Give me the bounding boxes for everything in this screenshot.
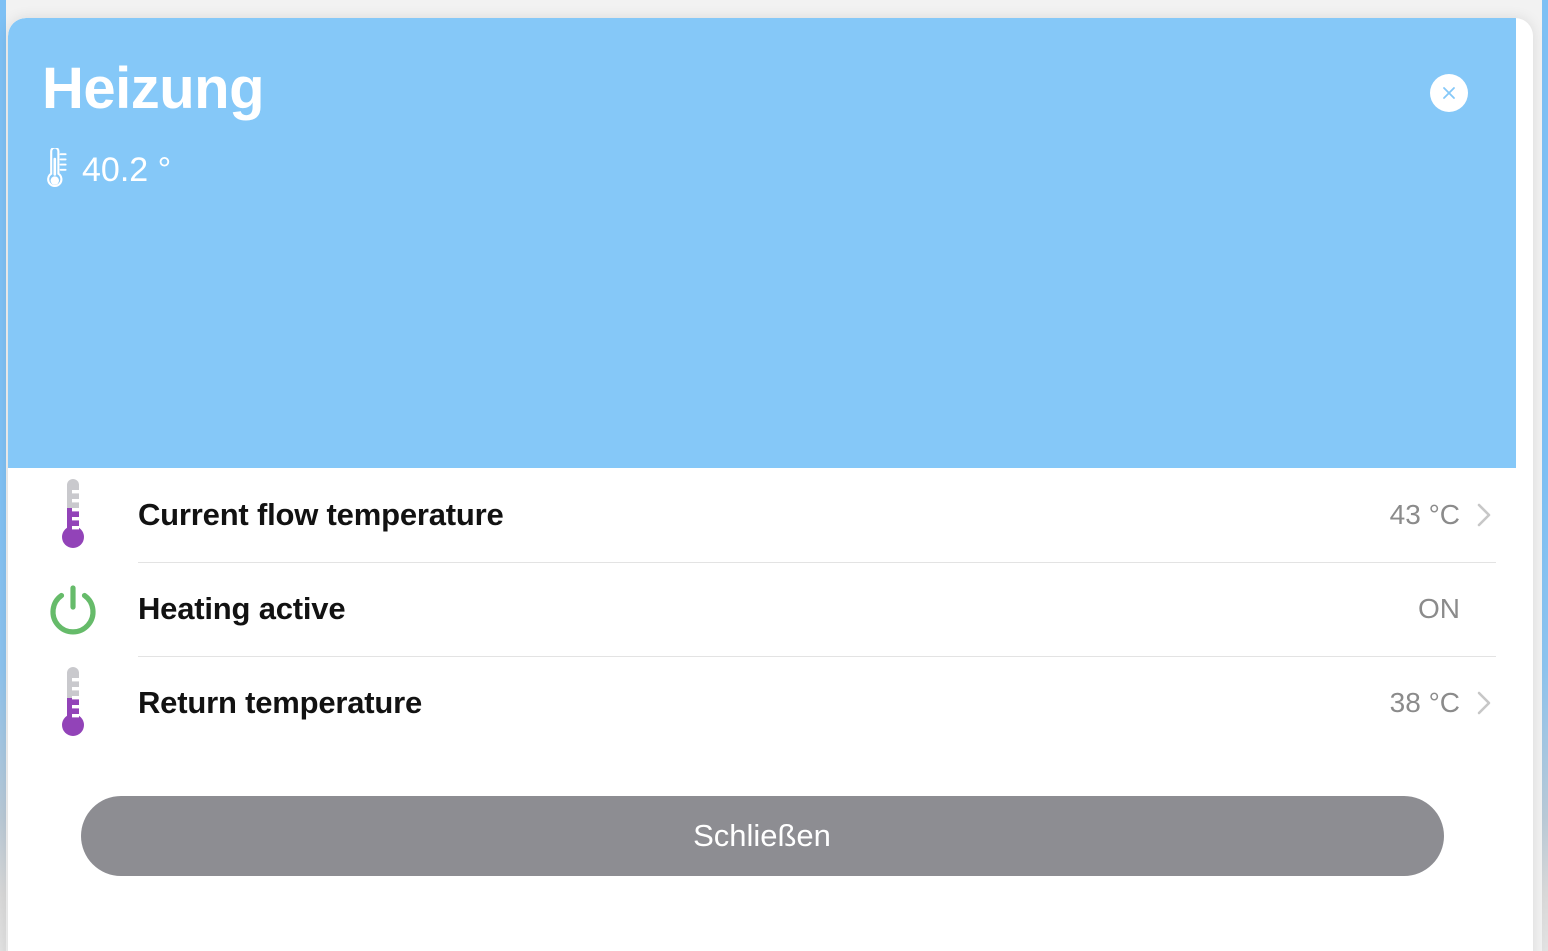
list-item-label: Heating active <box>138 591 1418 627</box>
detail-list: Current flow temperature 43 °C <box>8 468 1516 750</box>
scrollbar-left[interactable] <box>0 0 6 951</box>
power-icon <box>8 580 138 638</box>
status-badge: ON <box>1418 593 1460 625</box>
list-item-value-group: ON <box>1418 593 1516 625</box>
page-background: Heizung 40.2 ° <box>0 0 1548 951</box>
close-button[interactable]: Schließen <box>81 796 1444 876</box>
dialog-footer: Schließen <box>8 796 1516 876</box>
list-item-label: Return temperature <box>138 685 1390 721</box>
list-item-value: 38 °C <box>1390 687 1460 719</box>
dialog-header: Heizung 40.2 ° <box>8 18 1516 468</box>
header-temperature-value: 40.2 ° <box>82 153 171 187</box>
close-icon-button[interactable] <box>1430 74 1468 112</box>
scrollbar-right[interactable] <box>1542 0 1548 951</box>
header-temperature: 40.2 ° <box>42 148 171 192</box>
chevron-right-icon <box>1476 690 1492 716</box>
list-item-value-group: 43 °C <box>1390 499 1516 531</box>
list-item-heating-active[interactable]: Heating active ON <box>8 562 1516 656</box>
list-item-current-flow-temperature[interactable]: Current flow temperature 43 °C <box>8 468 1516 562</box>
list-item-value: 43 °C <box>1390 499 1460 531</box>
chevron-right-icon <box>1476 502 1492 528</box>
page-title: Heizung <box>42 60 264 118</box>
heating-dialog: Heizung 40.2 ° <box>8 18 1533 951</box>
thermometer-icon <box>42 148 68 192</box>
close-icon <box>1440 84 1458 102</box>
thermometer-icon <box>8 477 138 553</box>
list-item-value-group: 38 °C <box>1390 687 1516 719</box>
list-item-return-temperature[interactable]: Return temperature 38 °C <box>8 656 1516 750</box>
list-item-label: Current flow temperature <box>138 497 1390 533</box>
thermometer-icon <box>8 665 138 741</box>
